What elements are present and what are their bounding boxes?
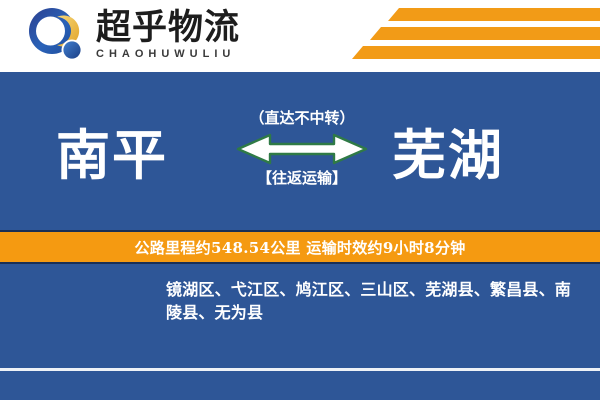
- coverage-panel: 镜湖区、弋江区、鸠江区、三山区、芜湖县、繁昌县、南陵县、无为县: [0, 264, 600, 400]
- circle-crescent-logo-icon: [26, 6, 88, 64]
- stripe-3: [352, 46, 600, 59]
- distance-duration-bar: 公路里程约548.54公里 运输时效约9小时8分钟: [0, 230, 600, 264]
- route-middle-block: （直达不中转） 【往返运输】: [228, 110, 376, 186]
- distance-duration-text: 公路里程约548.54公里 运输时效约9小时8分钟: [134, 237, 465, 258]
- destination-city-label: 芜湖: [392, 128, 504, 182]
- stripe-2: [370, 27, 600, 40]
- brand-logo-block: 超乎物流 CHAOHUWULIU: [26, 6, 240, 64]
- route-note-roundtrip: 【往返运输】: [228, 170, 376, 187]
- route-panel: 南平 （直达不中转） 【往返运输】 芜湖: [0, 72, 600, 230]
- coverage-districts-text: 镜湖区、弋江区、鸠江区、三山区、芜湖县、繁昌县、南陵县、无为县: [166, 278, 578, 324]
- brand-name-en: CHAOHUWULIU: [96, 48, 240, 60]
- route-note-direct: （直达不中转）: [228, 110, 376, 127]
- origin-city-label: 南平: [56, 128, 168, 182]
- stripe-1: [388, 8, 600, 21]
- brand-wordmark: 超乎物流 CHAOHUWULIU: [96, 10, 240, 61]
- orange-speed-stripes-icon: [340, 8, 600, 64]
- double-headed-arrow-icon: [228, 132, 376, 166]
- ground-line: [0, 368, 600, 371]
- logistics-route-banner: 超乎物流 CHAOHUWULIU 南平 （直达不中转） 【往返运输】 芜湖 公路…: [0, 0, 600, 400]
- brand-name-cn: 超乎物流: [96, 10, 240, 47]
- banner-header: 超乎物流 CHAOHUWULIU: [0, 0, 600, 72]
